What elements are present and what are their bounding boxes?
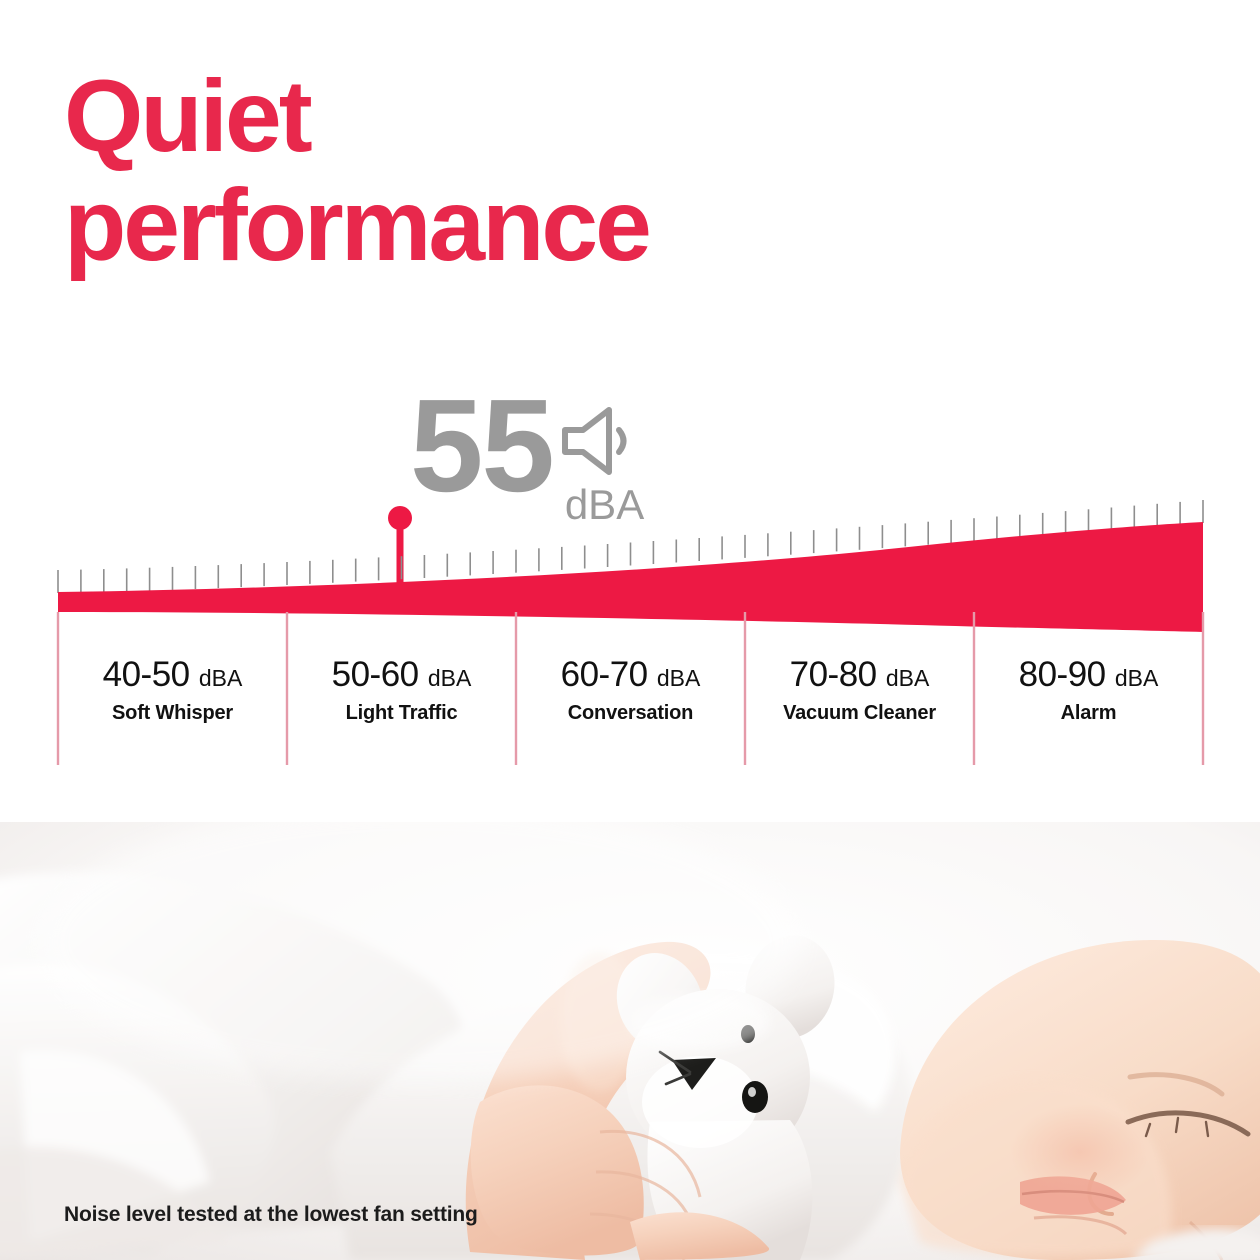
segment-conversation: 60-70 dBA Conversation [516, 655, 745, 725]
segment-range: 80-90 dBA [974, 655, 1203, 695]
segment-range-unit: dBA [428, 665, 471, 691]
segment-name: Conversation [516, 702, 745, 725]
page-title: Quiet performance [64, 62, 964, 280]
segment-range: 40-50 dBA [58, 655, 287, 695]
segment-name: Light Traffic [287, 702, 516, 725]
segment-range-value: 60-70 [561, 655, 648, 694]
hero-photo [0, 822, 1260, 1260]
segment-range-unit: dBA [199, 665, 242, 691]
scale-wedge [58, 522, 1203, 632]
segment-range-unit: dBA [657, 665, 700, 691]
segment-range-value: 40-50 [103, 655, 190, 694]
noise-scale-graphic [0, 500, 1260, 800]
noise-level-value: 55 [410, 388, 553, 504]
segment-soft-whisper: 40-50 dBA Soft Whisper [58, 655, 287, 725]
segment-vacuum-cleaner: 70-80 dBA Vacuum Cleaner [745, 655, 974, 725]
sleeping-baby-photo [0, 822, 1260, 1260]
noise-scale [0, 500, 1260, 800]
segment-label-row: 40-50 dBA Soft Whisper 50-60 dBA Light T… [58, 655, 1203, 725]
photo-caption: Noise level tested at the lowest fan set… [64, 1203, 478, 1227]
segment-light-traffic: 50-60 dBA Light Traffic [287, 655, 516, 725]
segment-name: Vacuum Cleaner [745, 702, 974, 725]
segment-alarm: 80-90 dBA Alarm [974, 655, 1203, 725]
segment-range-value: 50-60 [332, 655, 419, 694]
segment-range-value: 70-80 [790, 655, 877, 694]
segment-name: Soft Whisper [58, 702, 287, 725]
speaker-icon [559, 404, 635, 478]
segment-range-unit: dBA [886, 665, 929, 691]
segment-range: 70-80 dBA [745, 655, 974, 695]
segment-name: Alarm [974, 702, 1203, 725]
segment-range-unit: dBA [1115, 665, 1158, 691]
segment-range-value: 80-90 [1019, 655, 1106, 694]
segment-range: 50-60 dBA [287, 655, 516, 695]
segment-range: 60-70 dBA [516, 655, 745, 695]
